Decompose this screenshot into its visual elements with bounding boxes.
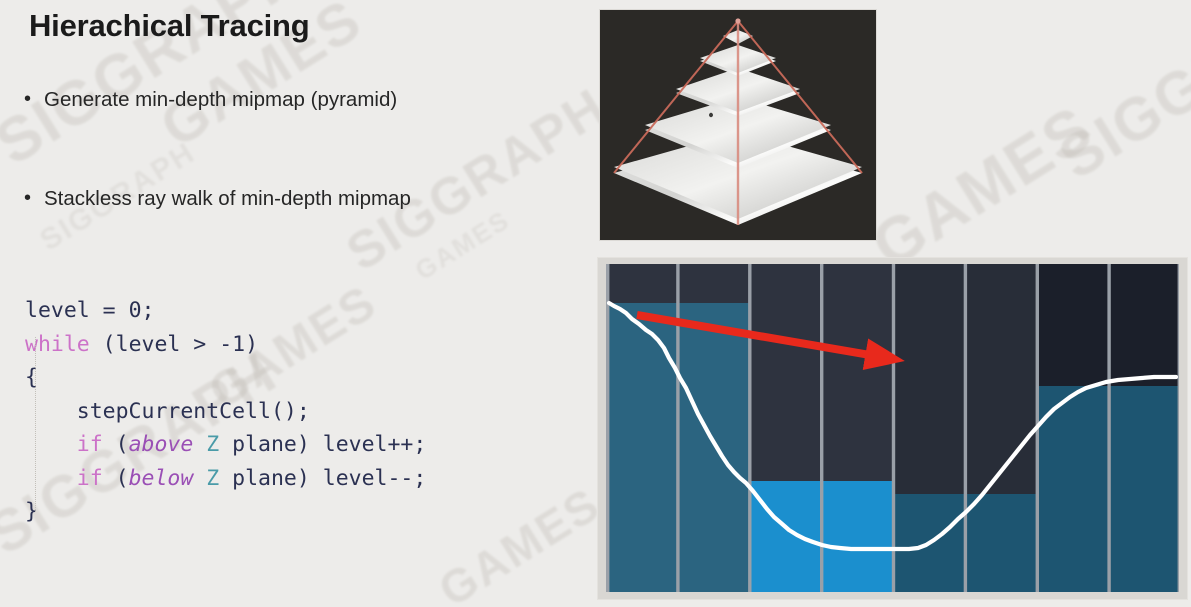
bullet-text: Stackless ray walk of min-depth mipmap <box>44 188 411 211</box>
pyramid-svg <box>600 10 876 240</box>
indent-guide <box>35 337 37 512</box>
surface-speck <box>709 113 713 117</box>
code-token: ( <box>90 332 116 357</box>
code-token: 0; <box>129 298 155 323</box>
code-token: above <box>129 432 194 457</box>
code-token: ( <box>103 432 129 457</box>
bullet-marker-icon: • <box>24 89 44 109</box>
code-line: while (level > -1) <box>25 328 426 362</box>
code-token <box>193 466 206 491</box>
bullet-marker-icon: • <box>24 188 44 208</box>
code-token: plane) level++; <box>219 432 426 457</box>
slide-canvas: SIGGRAPH GAMES SIGGRAPH GAMES GAMES SIGG… <box>0 0 1191 607</box>
code-line: } <box>25 495 426 529</box>
code-token: = <box>90 298 129 323</box>
watermark-text: GAMES <box>429 477 609 607</box>
bullet-item: • Stackless ray walk of min-depth mipmap <box>24 188 411 211</box>
code-token: if <box>77 432 103 457</box>
code-token: ( <box>103 466 129 491</box>
code-token: > <box>180 332 219 357</box>
mipmap-pyramid-figure <box>599 9 877 241</box>
watermark-text: SIGGRAPH <box>1047 0 1191 193</box>
code-line: level = 0; <box>25 294 426 328</box>
code-token: if <box>77 466 103 491</box>
code-line: { <box>25 361 426 395</box>
code-token: below <box>129 466 194 491</box>
code-token: Z <box>206 466 219 491</box>
code-token <box>193 432 206 457</box>
watermark-text: GAMES <box>410 204 516 286</box>
code-token <box>25 466 77 491</box>
pyramid-apex-point <box>735 18 740 23</box>
bullet-text: Generate min-depth mipmap (pyramid) <box>44 89 397 112</box>
code-block: level = 0;while (level > -1){ stepCurren… <box>25 294 426 529</box>
code-token: -1) <box>219 332 258 357</box>
code-token <box>25 432 77 457</box>
code-line: if (below Z plane) level--; <box>25 462 426 496</box>
code-token: level <box>116 332 181 357</box>
code-line: stepCurrentCell(); <box>25 395 426 429</box>
code-line: if (above Z plane) level++; <box>25 428 426 462</box>
slide-title: Hierachical Tracing <box>29 8 310 44</box>
chart-svg <box>606 264 1179 592</box>
code-token: Z <box>206 432 219 457</box>
code-token: plane) level--; <box>219 466 426 491</box>
chart-plot-area <box>606 264 1179 592</box>
bullet-item: • Generate min-depth mipmap (pyramid) <box>24 89 397 112</box>
min-depth-cells-figure <box>597 257 1188 600</box>
code-token: stepCurrentCell(); <box>25 399 310 424</box>
watermark-text: GAMES <box>859 91 1106 283</box>
code-token: level <box>25 298 90 323</box>
